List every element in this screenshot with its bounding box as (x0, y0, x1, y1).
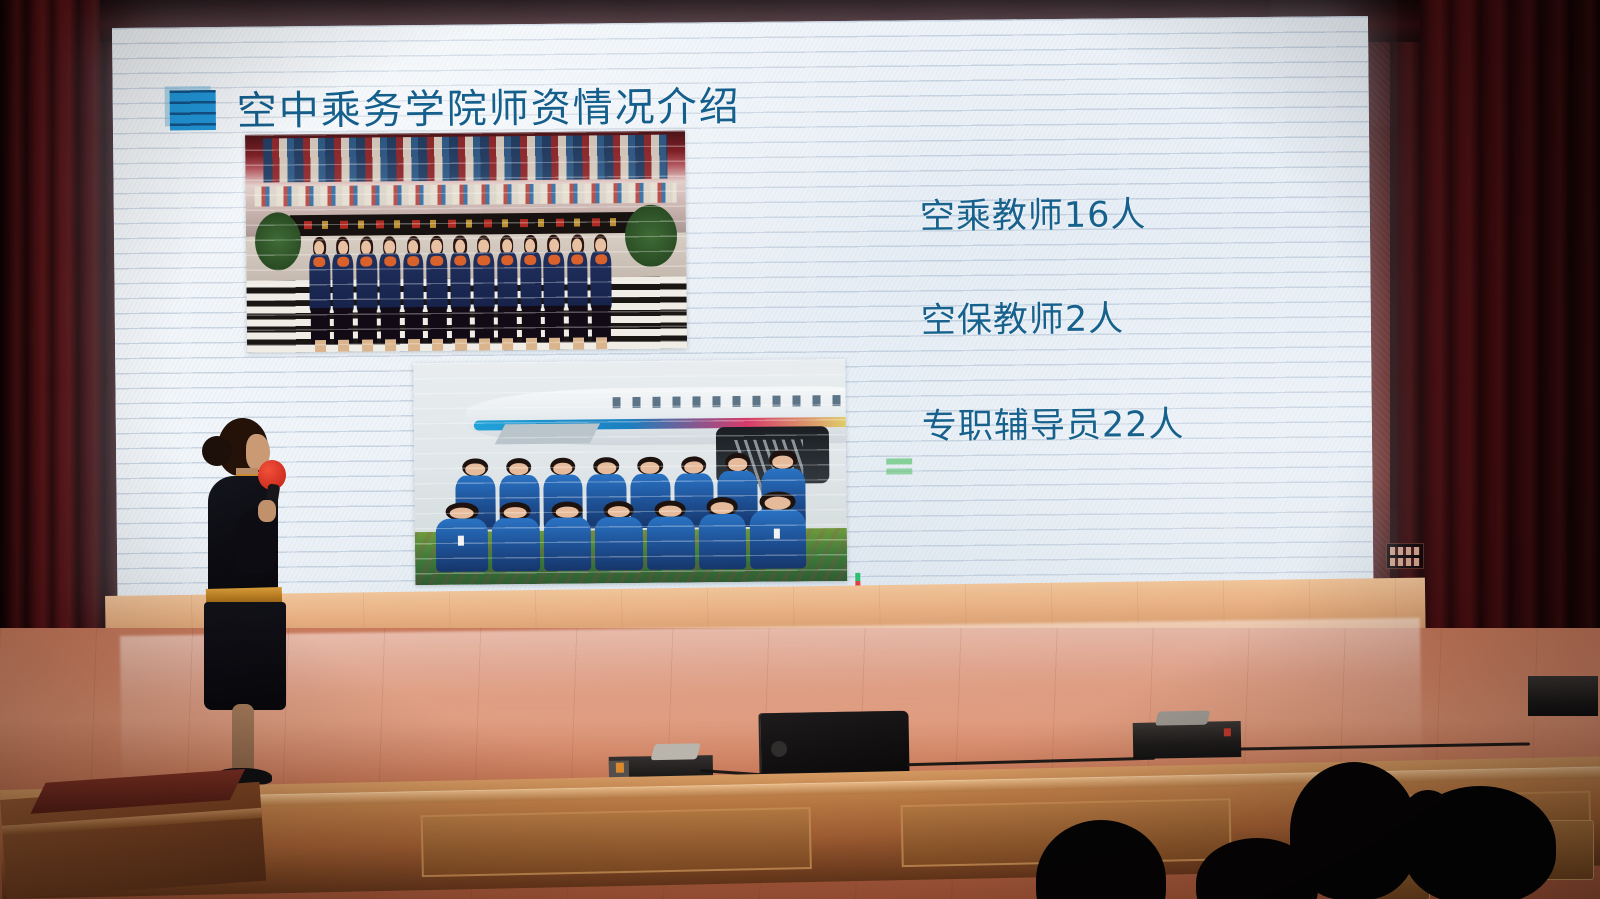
presenter-skirt (204, 602, 286, 710)
stage-front-ledge-left (0, 782, 266, 899)
slide-title-row: 空中乘务学院师资情况介绍 (164, 74, 741, 138)
cabin-crew-row (308, 231, 626, 352)
presenter-hair-bun (202, 436, 232, 466)
screen-dead-pixel (886, 458, 912, 464)
equipment-box-right (1133, 721, 1242, 759)
presenter-speaker (196, 412, 292, 787)
led-display-screen: 空中乘务学院师资情况介绍 (112, 16, 1374, 628)
slide-title: 空中乘务学院师资情况介绍 (236, 74, 741, 137)
stage-monitor-speaker (760, 711, 909, 780)
stat-cabin-crew-teachers: 空乘教师16人 (920, 186, 1147, 239)
stat-counselors: 专职辅导员22人 (922, 396, 1185, 450)
stage-curtain-left (0, 0, 118, 680)
audience-head-silhouette (1290, 762, 1418, 899)
presenter-hand (258, 500, 276, 522)
equipment-box-far-right (1528, 676, 1598, 716)
maintenance-team-group (431, 430, 830, 571)
aircraft-maintenance-team-photo (413, 359, 847, 585)
speaker-cone-icon (771, 741, 787, 757)
screen-dead-pixel (886, 468, 912, 474)
blue-square-bullet-icon (165, 86, 215, 130)
audience-hair-bun-silhouette (1404, 790, 1452, 836)
stat-security-teachers: 空保教师2人 (921, 290, 1125, 343)
auditorium-stage-scene: 空中乘务学院师资情况介绍 (0, 0, 1600, 899)
cabin-crew-group-photo (245, 131, 687, 353)
presenter-leg (232, 704, 254, 774)
wall-outlet-plate (1386, 543, 1424, 569)
